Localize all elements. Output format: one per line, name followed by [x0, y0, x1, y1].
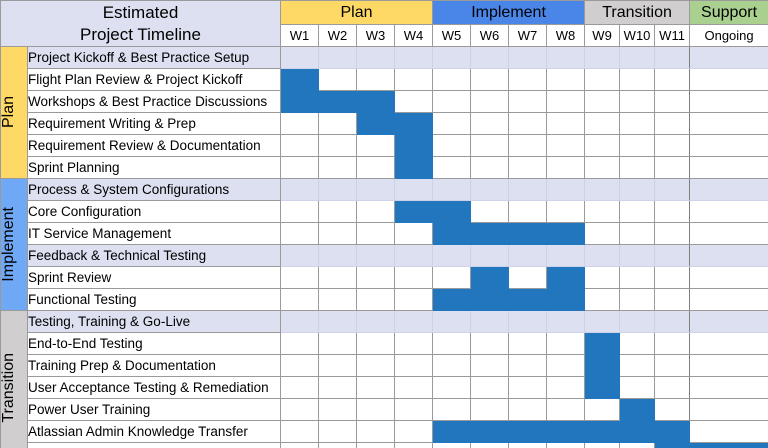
- gantt-empty-cell: [319, 223, 357, 245]
- gantt-empty-cell: [433, 69, 471, 91]
- week-header-w11: W11: [655, 25, 690, 47]
- gantt-empty-cell: [433, 113, 471, 135]
- gantt-empty-cell: [433, 377, 471, 399]
- gantt-empty-cell: [357, 69, 395, 91]
- gantt-bar-cell: [471, 289, 509, 311]
- gantt-bar-cell: [357, 91, 395, 113]
- gantt-empty-cell: [395, 355, 433, 377]
- gantt-bar-cell: [471, 267, 509, 289]
- gantt-empty-cell: [433, 157, 471, 179]
- week-header-w3: W3: [357, 25, 395, 47]
- gantt-empty-cell: [690, 223, 768, 245]
- gantt-task-row: Atlassian Admin Knowledge Transfer: [1, 421, 768, 443]
- gantt-empty-cell: [690, 355, 768, 377]
- gantt-task-row: Take-Off (Go-Live): [1, 443, 768, 448]
- gantt-bar-cell: [547, 421, 585, 443]
- gantt-empty-cell: [509, 47, 547, 69]
- gantt-empty-cell: [471, 245, 509, 267]
- gantt-empty-cell: [357, 245, 395, 267]
- gantt-empty-cell: [281, 399, 319, 421]
- gantt-empty-cell: [433, 179, 471, 201]
- gantt-empty-cell: [433, 245, 471, 267]
- gantt-bar-cell: [620, 399, 655, 421]
- gantt-empty-cell: [509, 377, 547, 399]
- gantt-empty-cell: [690, 179, 768, 201]
- gantt-task-row: Requirement Writing & Prep: [1, 113, 768, 135]
- gantt-bar-cell: [509, 421, 547, 443]
- gantt-empty-cell: [319, 289, 357, 311]
- gantt-empty-cell: [395, 267, 433, 289]
- task-label: Sprint Review: [28, 267, 281, 289]
- gantt-empty-cell: [547, 377, 585, 399]
- group-label: Testing, Training & Go-Live: [28, 311, 281, 333]
- gantt-empty-cell: [357, 135, 395, 157]
- gantt-bar-cell: [281, 69, 319, 91]
- gantt-empty-cell: [281, 113, 319, 135]
- gantt-empty-cell: [620, 113, 655, 135]
- gantt-empty-cell: [655, 333, 690, 355]
- gantt-bar-cell: [585, 421, 620, 443]
- gantt-empty-cell: [319, 69, 357, 91]
- gantt-empty-cell: [690, 113, 768, 135]
- gantt-empty-cell: [471, 157, 509, 179]
- gantt-bar-cell: [433, 223, 471, 245]
- gantt-empty-cell: [357, 311, 395, 333]
- group-label: Process & System Configurations: [28, 179, 281, 201]
- gantt-empty-cell: [585, 399, 620, 421]
- gantt-empty-cell: [395, 311, 433, 333]
- page-title: EstimatedProject Timeline: [1, 1, 281, 47]
- gantt-empty-cell: [357, 157, 395, 179]
- gantt-empty-cell: [547, 47, 585, 69]
- gantt-empty-cell: [655, 377, 690, 399]
- gantt-empty-cell: [471, 113, 509, 135]
- gantt-empty-cell: [509, 355, 547, 377]
- gantt-empty-cell: [357, 355, 395, 377]
- gantt-empty-cell: [319, 311, 357, 333]
- gantt-empty-cell: [395, 245, 433, 267]
- gantt-bar-cell: [547, 289, 585, 311]
- task-label: Core Configuration: [28, 201, 281, 223]
- gantt-empty-cell: [620, 333, 655, 355]
- gantt-empty-cell: [433, 47, 471, 69]
- gantt-bar-cell: [655, 421, 690, 443]
- gantt-empty-cell: [585, 311, 620, 333]
- gantt-empty-cell: [690, 91, 768, 113]
- gantt-task-row: Training Prep & Documentation: [1, 355, 768, 377]
- gantt-empty-cell: [281, 267, 319, 289]
- gantt-bar-cell: [471, 421, 509, 443]
- gantt-empty-cell: [509, 399, 547, 421]
- phase-header-implement: Implement: [433, 1, 585, 25]
- gantt-empty-cell: [471, 201, 509, 223]
- gantt-empty-cell: [585, 135, 620, 157]
- week-header-w2: W2: [319, 25, 357, 47]
- gantt-empty-cell: [509, 267, 547, 289]
- gantt-empty-cell: [690, 311, 768, 333]
- week-header-w1: W1: [281, 25, 319, 47]
- gantt-empty-cell: [585, 113, 620, 135]
- gantt-empty-cell: [395, 223, 433, 245]
- phase-side-label-text: Implement: [1, 207, 17, 282]
- gantt-task-row: Flight Plan Review & Project Kickoff: [1, 69, 768, 91]
- gantt-empty-cell: [281, 311, 319, 333]
- gantt-bar-cell: [395, 113, 433, 135]
- gantt-empty-cell: [655, 47, 690, 69]
- task-label: Requirement Writing & Prep: [28, 113, 281, 135]
- gantt-empty-cell: [509, 333, 547, 355]
- gantt-empty-cell: [620, 443, 655, 448]
- gantt-empty-cell: [281, 135, 319, 157]
- gantt-empty-cell: [585, 91, 620, 113]
- gantt-empty-cell: [620, 135, 655, 157]
- gantt-empty-cell: [357, 289, 395, 311]
- gantt-empty-cell: [585, 289, 620, 311]
- gantt-empty-cell: [357, 377, 395, 399]
- task-label: Requirement Review & Documentation: [28, 135, 281, 157]
- phase-header-plan: Plan: [281, 1, 433, 25]
- task-label: Training Prep & Documentation: [28, 355, 281, 377]
- gantt-empty-cell: [655, 179, 690, 201]
- gantt-empty-cell: [547, 333, 585, 355]
- gantt-empty-cell: [433, 311, 471, 333]
- gantt-empty-cell: [395, 179, 433, 201]
- gantt-empty-cell: [319, 421, 357, 443]
- gantt-empty-cell: [547, 355, 585, 377]
- task-label: IT Service Management: [28, 223, 281, 245]
- gantt-empty-cell: [281, 443, 319, 448]
- gantt-bar-cell: [395, 157, 433, 179]
- gantt-empty-cell: [620, 289, 655, 311]
- gantt-empty-cell: [690, 69, 768, 91]
- gantt-empty-cell: [547, 201, 585, 223]
- gantt-empty-cell: [509, 113, 547, 135]
- gantt-empty-cell: [620, 245, 655, 267]
- gantt-empty-cell: [433, 399, 471, 421]
- gantt-empty-cell: [357, 333, 395, 355]
- phase-side-label-text: Transition: [1, 353, 17, 423]
- gantt-empty-cell: [690, 289, 768, 311]
- page-title-line2: Project Timeline: [1, 24, 280, 45]
- gantt-empty-cell: [395, 333, 433, 355]
- gantt-empty-cell: [547, 179, 585, 201]
- gantt-empty-cell: [433, 333, 471, 355]
- phase-header-support: Support: [690, 1, 768, 25]
- gantt-empty-cell: [509, 245, 547, 267]
- gantt-empty-cell: [620, 179, 655, 201]
- gantt-task-row: End-to-End Testing: [1, 333, 768, 355]
- gantt-empty-cell: [620, 47, 655, 69]
- gantt-empty-cell: [690, 135, 768, 157]
- phase-side-label-text: Plan: [1, 96, 17, 128]
- task-label: End-to-End Testing: [28, 333, 281, 355]
- gantt-empty-cell: [319, 245, 357, 267]
- gantt-empty-cell: [585, 201, 620, 223]
- gantt-empty-cell: [281, 201, 319, 223]
- gantt-empty-cell: [547, 399, 585, 421]
- gantt-empty-cell: [281, 333, 319, 355]
- gantt-empty-cell: [655, 113, 690, 135]
- gantt-empty-cell: [471, 179, 509, 201]
- gantt-empty-cell: [585, 179, 620, 201]
- gantt-empty-cell: [655, 289, 690, 311]
- gantt-group-row: PlanProject Kickoff & Best Practice Setu…: [1, 47, 768, 69]
- gantt-empty-cell: [547, 443, 585, 448]
- gantt-bar-cell: [471, 223, 509, 245]
- gantt-empty-cell: [471, 333, 509, 355]
- gantt-empty-cell: [471, 311, 509, 333]
- gantt-empty-cell: [655, 399, 690, 421]
- gantt-bar-cell: [319, 91, 357, 113]
- gantt-empty-cell: [357, 201, 395, 223]
- gantt-empty-cell: [471, 69, 509, 91]
- gantt-empty-cell: [433, 91, 471, 113]
- week-header-w6: W6: [471, 25, 509, 47]
- gantt-task-row: Core Configuration: [1, 201, 768, 223]
- gantt-empty-cell: [471, 443, 509, 448]
- gantt-empty-cell: [319, 333, 357, 355]
- gantt-empty-cell: [547, 135, 585, 157]
- task-label: Take-Off (Go-Live): [28, 443, 281, 448]
- gantt-empty-cell: [509, 135, 547, 157]
- gantt-empty-cell: [690, 47, 768, 69]
- gantt-empty-cell: [281, 355, 319, 377]
- gantt-empty-cell: [281, 47, 319, 69]
- group-label: Feedback & Technical Testing: [28, 245, 281, 267]
- task-label: Flight Plan Review & Project Kickoff: [28, 69, 281, 91]
- gantt-empty-cell: [433, 443, 471, 448]
- gantt-empty-cell: [319, 443, 357, 448]
- gantt-empty-cell: [395, 47, 433, 69]
- gantt-empty-cell: [620, 201, 655, 223]
- gantt-bar-cell: [585, 333, 620, 355]
- week-header-w4: W4: [395, 25, 433, 47]
- gantt-empty-cell: [547, 157, 585, 179]
- gantt-empty-cell: [395, 399, 433, 421]
- gantt-empty-cell: [319, 157, 357, 179]
- gantt-empty-cell: [357, 179, 395, 201]
- gantt-empty-cell: [281, 179, 319, 201]
- gantt-empty-cell: [281, 157, 319, 179]
- gantt-bar-cell: [585, 377, 620, 399]
- gantt-empty-cell: [690, 333, 768, 355]
- task-label: Power User Training: [28, 399, 281, 421]
- gantt-bar-cell: [433, 289, 471, 311]
- gantt-empty-cell: [690, 201, 768, 223]
- gantt-empty-cell: [655, 157, 690, 179]
- gantt-empty-cell: [547, 69, 585, 91]
- gantt-empty-cell: [471, 355, 509, 377]
- gantt-empty-cell: [690, 421, 768, 443]
- gantt-task-row: Requirement Review & Documentation: [1, 135, 768, 157]
- gantt-empty-cell: [319, 113, 357, 135]
- gantt-group-row: ImplementProcess & System Configurations: [1, 179, 768, 201]
- week-header-w5: W5: [433, 25, 471, 47]
- gantt-bar-cell: [690, 443, 768, 448]
- gantt-empty-cell: [357, 267, 395, 289]
- gantt-empty-cell: [655, 69, 690, 91]
- gantt-empty-cell: [690, 399, 768, 421]
- week-header-w9: W9: [585, 25, 620, 47]
- gantt-bar-cell: [433, 421, 471, 443]
- gantt-empty-cell: [655, 355, 690, 377]
- gantt-empty-cell: [690, 377, 768, 399]
- gantt-empty-cell: [547, 311, 585, 333]
- gantt-empty-cell: [471, 91, 509, 113]
- gantt-empty-cell: [319, 135, 357, 157]
- gantt-empty-cell: [620, 157, 655, 179]
- gantt-empty-cell: [509, 443, 547, 448]
- group-label: Project Kickoff & Best Practice Setup: [28, 47, 281, 69]
- gantt-task-row: User Acceptance Testing & Remediation: [1, 377, 768, 399]
- gantt-empty-cell: [319, 47, 357, 69]
- gantt-bar-cell: [395, 135, 433, 157]
- gantt-bar-cell: [547, 223, 585, 245]
- gantt-empty-cell: [471, 47, 509, 69]
- gantt-task-row: Workshops & Best Practice Discussions: [1, 91, 768, 113]
- gantt-bar-cell: [509, 223, 547, 245]
- gantt-table: EstimatedProject TimelinePlanImplementTr…: [0, 0, 768, 448]
- gantt-empty-cell: [655, 135, 690, 157]
- gantt-empty-cell: [547, 245, 585, 267]
- phase-side-label-implement: Implement: [1, 179, 28, 311]
- gantt-empty-cell: [585, 443, 620, 448]
- gantt-empty-cell: [395, 91, 433, 113]
- gantt-empty-cell: [471, 135, 509, 157]
- gantt-empty-cell: [433, 135, 471, 157]
- gantt-empty-cell: [585, 223, 620, 245]
- gantt-empty-cell: [357, 443, 395, 448]
- gantt-empty-cell: [547, 113, 585, 135]
- task-label: User Acceptance Testing & Remediation: [28, 377, 281, 399]
- gantt-empty-cell: [357, 47, 395, 69]
- gantt-group-row: TransitionTesting, Training & Go-Live: [1, 311, 768, 333]
- gantt-empty-cell: [509, 201, 547, 223]
- gantt-empty-cell: [509, 179, 547, 201]
- gantt-empty-cell: [585, 47, 620, 69]
- gantt-empty-cell: [395, 443, 433, 448]
- gantt-chart: EstimatedProject TimelinePlanImplementTr…: [0, 0, 768, 448]
- gantt-empty-cell: [547, 91, 585, 113]
- phase-side-label-plan: Plan: [1, 47, 28, 179]
- gantt-empty-cell: [281, 223, 319, 245]
- gantt-empty-cell: [655, 201, 690, 223]
- gantt-empty-cell: [319, 267, 357, 289]
- week-header-ongoing: Ongoing: [690, 25, 768, 47]
- gantt-bar-cell: [655, 443, 690, 448]
- gantt-empty-cell: [357, 399, 395, 421]
- gantt-empty-cell: [509, 157, 547, 179]
- task-label: Sprint Planning: [28, 157, 281, 179]
- gantt-bar-cell: [585, 355, 620, 377]
- gantt-empty-cell: [620, 69, 655, 91]
- gantt-empty-cell: [655, 311, 690, 333]
- week-header-w8: W8: [547, 25, 585, 47]
- gantt-empty-cell: [585, 157, 620, 179]
- gantt-empty-cell: [620, 91, 655, 113]
- gantt-empty-cell: [509, 69, 547, 91]
- gantt-empty-cell: [395, 377, 433, 399]
- gantt-empty-cell: [690, 245, 768, 267]
- gantt-empty-cell: [585, 69, 620, 91]
- page-title-line1: Estimated: [1, 2, 280, 23]
- gantt-empty-cell: [620, 223, 655, 245]
- task-label: Workshops & Best Practice Discussions: [28, 91, 281, 113]
- phase-header-transition: Transition: [585, 1, 690, 25]
- gantt-task-row: Sprint Planning: [1, 157, 768, 179]
- gantt-empty-cell: [655, 223, 690, 245]
- gantt-empty-cell: [281, 289, 319, 311]
- gantt-empty-cell: [395, 289, 433, 311]
- gantt-bar-cell: [547, 267, 585, 289]
- gantt-empty-cell: [585, 245, 620, 267]
- gantt-bar-cell: [509, 289, 547, 311]
- gantt-empty-cell: [620, 267, 655, 289]
- gantt-empty-cell: [281, 377, 319, 399]
- gantt-empty-cell: [690, 157, 768, 179]
- gantt-empty-cell: [357, 421, 395, 443]
- gantt-empty-cell: [509, 91, 547, 113]
- gantt-task-row: Sprint Review: [1, 267, 768, 289]
- gantt-empty-cell: [655, 267, 690, 289]
- header-row-phases: EstimatedProject TimelinePlanImplementTr…: [1, 1, 768, 25]
- gantt-empty-cell: [319, 355, 357, 377]
- gantt-empty-cell: [319, 399, 357, 421]
- gantt-task-row: IT Service Management: [1, 223, 768, 245]
- gantt-bar-cell: [357, 113, 395, 135]
- gantt-empty-cell: [471, 377, 509, 399]
- week-header-w7: W7: [509, 25, 547, 47]
- gantt-empty-cell: [585, 267, 620, 289]
- gantt-empty-cell: [509, 311, 547, 333]
- gantt-empty-cell: [433, 267, 471, 289]
- gantt-empty-cell: [395, 421, 433, 443]
- gantt-bar-cell: [395, 201, 433, 223]
- gantt-empty-cell: [433, 355, 471, 377]
- phase-side-label-transition: Transition: [1, 311, 28, 448]
- gantt-task-row: Power User Training: [1, 399, 768, 421]
- gantt-bar-cell: [281, 91, 319, 113]
- gantt-empty-cell: [281, 245, 319, 267]
- task-label: Atlassian Admin Knowledge Transfer: [28, 421, 281, 443]
- gantt-empty-cell: [471, 399, 509, 421]
- gantt-empty-cell: [655, 91, 690, 113]
- gantt-empty-cell: [357, 223, 395, 245]
- gantt-empty-cell: [620, 311, 655, 333]
- gantt-empty-cell: [319, 377, 357, 399]
- gantt-empty-cell: [655, 245, 690, 267]
- gantt-empty-cell: [395, 69, 433, 91]
- gantt-empty-cell: [620, 355, 655, 377]
- gantt-task-row: Functional Testing: [1, 289, 768, 311]
- gantt-empty-cell: [620, 377, 655, 399]
- gantt-empty-cell: [319, 201, 357, 223]
- gantt-empty-cell: [319, 179, 357, 201]
- gantt-bar-cell: [433, 201, 471, 223]
- gantt-bar-cell: [620, 421, 655, 443]
- week-header-w10: W10: [620, 25, 655, 47]
- task-label: Functional Testing: [28, 289, 281, 311]
- gantt-empty-cell: [281, 421, 319, 443]
- gantt-empty-cell: [690, 267, 768, 289]
- gantt-group-row: Feedback & Technical Testing: [1, 245, 768, 267]
